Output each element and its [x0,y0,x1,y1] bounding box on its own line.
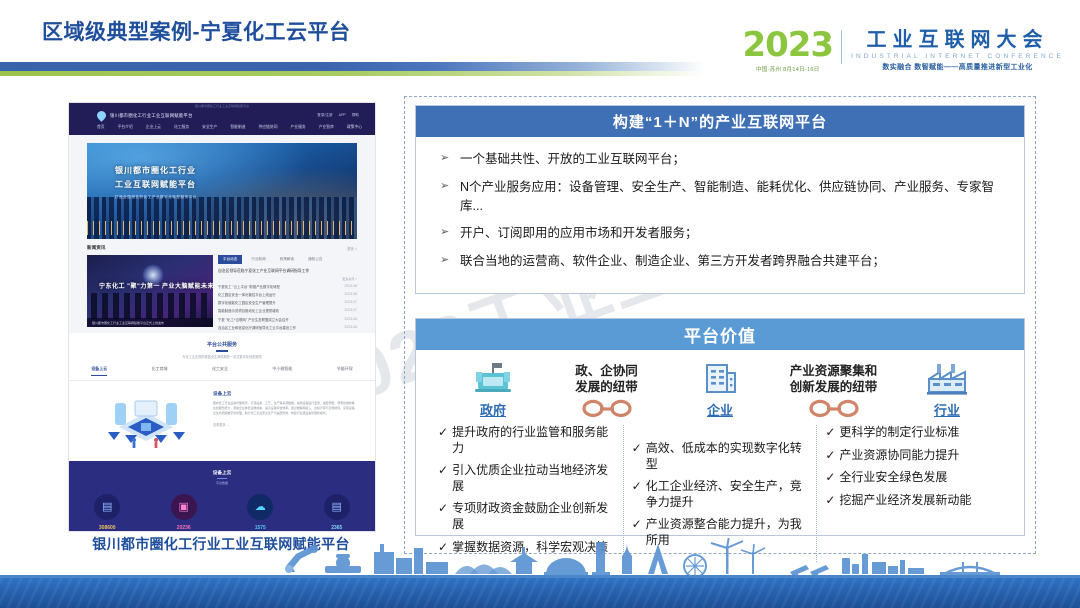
stat-item: ☁ 1575 工业APP [247,494,273,532]
bullet-text: 开户、订阅即用的应用市场和开发者服务； [460,224,698,243]
news-tab[interactable]: 政策解读 [275,255,299,264]
value-bullet-text: 专项财政资金鼓励企业创新发展 [452,501,615,532]
value-link-enterprise-industry: 产业资源聚集和 创新发展的纽带 [774,363,894,419]
conference-year-block: 2023 中国·苏州 8月14日-16日 [742,28,841,73]
news-item-date: 2023-08 [345,284,357,289]
hero-text-block: 银川都市圈化工行业 工业互联网赋能平台 打造全国领先的化工产业数字化转型服务平台 [115,165,197,200]
services-title: 平台公共服务 [69,341,375,348]
services-tabs[interactable]: 设备上云 化工商城 化工安全 中小微智能 节能环保 [69,366,375,381]
conference-tagline: 数实融合 数智赋能——高质量推进新型工业化 [882,62,1032,72]
bullet-text: 联合当地的运营商、软件企业、制造企业、第三方开发者跨界融合共建平台； [460,252,885,271]
value-bullet-text: 挖掘产业经济发展新动能 [839,493,971,509]
bullet-item: ➢ 开户、订阅即用的应用市场和开发者服务； [438,224,1002,243]
site-brand: 银川都市圈化工行业工业互联网赋能平台 [97,111,193,120]
industry-factory-icon [923,359,971,397]
site-brand-text: 银川都市圈化工行业工业互联网赋能平台 [110,113,193,119]
site-logo-icon [95,109,108,122]
site-nav[interactable]: 首页 平台介绍 企业上云 化工服务 安全生产 智能制造 供应链协同 产业服务 产… [97,125,362,130]
bullet-arrow-icon: ➢ [438,178,460,195]
site-hero-banner: 银川都市圈化工行业 工业互联网赋能平台 打造全国领先的化工产业数字化转型服务平台 [87,143,357,239]
header-divider-blue [0,62,706,71]
news-row: 宁东化工 "聚"力第一 产业大脑赋能未来 银川都市圈化工行业工业互联网赋能平台正… [87,255,357,327]
bottom-blue-band [0,578,1080,608]
news-item-title: 自治区工业和信息化厅调研指导化工云平台建设工作 [218,325,296,330]
value-bullet-text: 全行业安全绿色发展 [839,470,947,486]
services-tab-active[interactable]: 设备上云 [91,366,107,376]
news-item-date: 2023-08 [345,292,357,297]
bullet-arrow-icon: ➢ [438,224,460,241]
website-screenshot-image: 银川都市圈化工行业工业互联网赋能平台 银川都市圈化工行业工业互联网赋能平台 登录… [68,102,376,532]
value-link-government-enterprise: 政、企协同 发展的纽带 [547,363,667,419]
government-building-icon [471,359,515,397]
services-illustration [87,391,205,451]
bullet-item: ➢ 联合当地的运营商、软件企业、制造企业、第三方开发者跨界融合共建平台； [438,252,1002,271]
conference-name-en: INDUSTRIAL INTERNET CONFERENCE [851,53,1064,60]
check-icon: ✓ [825,448,835,464]
value-link-line1: 产业资源聚集和 [790,363,878,379]
platform-panel-body: ➢ 一个基础共性、开放的工业互联网平台； ➢ N个产业服务应用：设备管理、安全生… [416,137,1024,271]
value-bullet: ✓ 高效、低成本的实现数字化转型 [632,441,809,472]
site-nav-item[interactable]: 平台介绍 [118,125,133,130]
conference-name-cn: 工业互联网大会 [867,30,1049,51]
value-bullet-text: 更科学的制定行业标准 [839,425,959,441]
site-nav-item[interactable]: 政策中心 [347,125,362,130]
news-list-item[interactable]: 自治区工业和信息化厅调研指导化工云平台建设工作 2023-06 [218,325,357,330]
conference-date: 中国·苏州 8月14日-16日 [756,65,820,73]
check-icon: ✓ [632,517,642,533]
enterprise-icon: ▣ [171,494,197,520]
value-actor-label: 政府 [480,400,506,419]
hero-line-2: 工业互联网赋能平台 [115,179,197,190]
bullet-item: ➢ N个产业服务应用：设备管理、安全生产、智能制造、能耗优化、供应链协同、产业服… [438,178,1002,216]
site-nav-item[interactable]: 产业服务 [291,125,306,130]
value-bullet: ✓ 提升政府的行业监管和服务能力 [438,425,615,456]
news-item-date: 2023-06 [345,317,357,322]
bullet-text: 一个基础共性、开放的工业互联网平台； [460,150,685,169]
check-icon: ✓ [825,425,835,441]
news-tab[interactable]: 行业新闻 [246,255,270,264]
site-nav-item[interactable]: 企业上云 [146,125,161,130]
news-feature-image[interactable]: 宁东化工 "聚"力第一 产业大脑赋能未来 银川都市圈化工行业工业互联网赋能平台正… [87,255,213,327]
logo-separator [841,30,842,64]
check-icon: ✓ [438,425,448,441]
stat-item: ▤ 2365 服务商 [324,494,350,532]
service-provider-icon: ▤ [324,494,350,520]
news-item-date: 2023-07 [345,308,357,313]
value-actor-label: 行业 [934,400,960,419]
site-nav-item[interactable]: 智能制造 [230,125,245,130]
news-more-link[interactable]: 更多 > [347,246,357,251]
stats-row: ▤ 308600 接入设备数 ▣ 20236 上云企业 ☁ 1575 工业APP… [69,494,375,532]
value-bullet: ✓ 产业资源协同能力提升 [825,448,1002,464]
news-tab-active[interactable]: 平台动态 [218,255,242,264]
stats-subtitle: 平台数据 [69,481,375,485]
bullet-arrow-icon: ➢ [438,150,460,167]
services-section: 平台公共服务 为化工企业提供覆盖全生命周期的一站式数字化转型服务 设备上云 化工… [69,333,375,461]
site-nav-item[interactable]: 安全生产 [202,125,217,130]
news-item-title: 数字化赋能化工园区安全生产管理提升 [218,300,276,305]
news-tabs[interactable]: 平台动态 行业新闻 政策解读 通知公告 [218,255,357,264]
value-link-line2: 创新发展的纽带 [790,379,878,395]
chain-link-icon [807,399,861,419]
news-list-item[interactable]: 智能制造示范项目推动化工企业提质增效 2023-07 [218,308,357,313]
services-card-body: 面向化工行业设备管理场景，打通设备、工艺、生产等多源数据，提供设备运行监测、故障… [213,401,357,416]
news-item-title: 宁夏 "化工+互联网" 产业生态联盟成立大会召开 [218,317,289,322]
value-bullet-text: 引入优质企业拉动当地经济发展 [452,463,615,494]
stat-value: 1575 [255,525,266,531]
site-top-link[interactable]: 登录/注册 [317,113,332,118]
value-link-line1: 政、企协同 [575,363,638,379]
value-bullet-text: 化工企业经济、安全生产，竞争力提升 [646,479,809,510]
news-section-label: 新闻资讯 更多 > [87,245,357,251]
news-item-date: 2023-07 [345,300,357,305]
site-top-link[interactable]: 帮助 [352,113,359,118]
services-tab[interactable]: 化工安全 [212,366,228,376]
hero-lights-graphic [87,221,357,235]
news-more-small[interactable]: 更多资讯 > [218,277,357,281]
value-icon-row: 政府 政、企协同 发展的纽带 [416,350,1024,419]
bullet-text: N个产业服务应用：设备管理、安全生产、智能制造、能耗优化、供应链协同、产业服务、… [460,178,1002,216]
news-section-title: 新闻资讯 [87,245,105,251]
stats-underline [217,478,227,479]
news-list-item[interactable]: 宁夏化工 "云上平台" 助推产业数字化转型 2023-08 [218,284,357,289]
value-bullet: ✓ 全行业安全绿色发展 [825,470,1002,486]
services-body: 设备上云 面向化工行业设备管理场景，打通设备、工艺、生产等多源数据，提供设备运行… [69,381,375,461]
site-topbar: 银川都市圈化工行业工业互联网赋能平台 银川都市圈化工行业工业互联网赋能平台 登录… [69,103,375,135]
news-item-date: 2023-06 [345,325,357,330]
conference-year: 2023 [742,28,833,62]
value-panel: 平台价值 政府 政、企协同 发展的纽带 [415,318,1025,536]
device-icon: ▤ [94,494,120,520]
value-actor-label: 企业 [707,400,733,419]
services-underline [216,350,228,352]
services-card-more[interactable]: 查看更多 → [213,422,357,427]
check-icon: ✓ [438,501,448,517]
value-actor-enterprise: 企业 [679,359,761,419]
chain-link-icon [580,399,634,419]
platform-panel: 构建“1＋N”的产业互联网平台 ➢ 一个基础共性、开放的工业互联网平台； ➢ N… [415,105,1025,294]
news-list-item[interactable]: 化工园区安全一体化管控平台上线运行 2023-08 [218,292,357,297]
bullet-item: ➢ 一个基础共性、开放的工业互联网平台； [438,150,1002,169]
header-divider-green [0,71,706,76]
value-link-text: 政、企协同 发展的纽带 [575,363,638,395]
enterprise-building-icon [698,359,742,397]
stat-value: 308600 [99,525,116,531]
value-bullet: ✓ 专项财政资金鼓励企业创新发展 [438,501,615,532]
news-list-item[interactable]: 数字化赋能化工园区安全生产管理提升 2023-07 [218,300,357,305]
stats-section: 设备上云 平台数据 ▤ 308600 接入设备数 ▣ 20236 上云企业 ☁ … [69,461,375,533]
stat-item: ▤ 308600 接入设备数 [94,494,120,532]
page-title: 区域级典型案例-宁夏化工云平台 [42,16,351,46]
site-nav-item[interactable]: 产业智库 [319,125,334,130]
platform-panel-title: 构建“1＋N”的产业互联网平台 [416,106,1024,137]
value-bullet: ✓ 挖掘产业经济发展新动能 [825,493,1002,509]
news-item-title: 宁夏化工 "云上平台" 助推产业数字化转型 [218,284,280,289]
bottom-skyline-decoration [0,538,1080,578]
news-item-title: 智能制造示范项目推动化工企业提质增效 [218,308,279,313]
value-link-line2: 发展的纽带 [575,379,638,395]
check-icon: ✓ [825,493,835,509]
stat-item: ▣ 20236 上云企业 [171,494,197,532]
value-bullet-text: 高效、低成本的实现数字化转型 [646,441,809,472]
news-headline[interactable]: 自治区领导莅临宁夏化工产业互联网平台调研指导工作 [218,269,357,275]
site-preheader: 银川都市圈化工行业工业互联网赋能平台 [195,104,249,108]
site-nav-item[interactable]: 首页 [97,125,105,130]
services-tab[interactable]: 节能环保 [337,366,353,376]
services-subtitle: 为化工企业提供覆盖全生命周期的一站式数字化转型服务 [69,354,375,359]
value-bullet-text: 产业资源协同能力提升 [839,448,959,464]
services-tab[interactable]: 中小微智能 [272,366,292,376]
stat-value: 20236 [177,525,191,531]
conference-logo: 2023 中国·苏州 8月14日-16日 工业互联网大会 INDUSTRIAL … [742,28,1064,73]
site-top-link[interactable]: APP [339,113,346,118]
value-link-text: 产业资源聚集和 创新发展的纽带 [790,363,878,395]
news-tab[interactable]: 通知公告 [303,255,327,264]
value-panel-title: 平台价值 [416,319,1024,350]
stat-value: 2365 [331,525,342,531]
skyline-graphic-icon [0,538,1080,578]
site-top-links[interactable]: 登录/注册 APP 帮助 [317,113,359,118]
value-actor-industry: 行业 [906,359,988,419]
site-nav-item[interactable]: 供应链协同 [259,125,278,130]
check-icon: ✓ [632,479,642,495]
news-list: 平台动态 行业新闻 政策解读 通知公告 自治区领导莅临宁夏化工产业互联网平台调研… [218,255,357,327]
check-icon: ✓ [438,463,448,479]
hero-line-1: 银川都市圈化工行业 [115,165,197,176]
app-icon: ☁ [247,494,273,520]
site-nav-item[interactable]: 化工服务 [174,125,189,130]
value-bullet: ✓ 化工企业经济、安全生产，竞争力提升 [632,479,809,510]
value-bullet-text: 提升政府的行业监管和服务能力 [452,425,615,456]
cloud-platform-illustration-icon [87,391,205,451]
stats-title: 设备上云 [69,470,375,476]
services-card-text: 设备上云 面向化工行业设备管理场景，打通设备、工艺、生产等多源数据，提供设备运行… [213,391,357,451]
services-card-title: 设备上云 [213,391,357,397]
conference-name-block: 工业互联网大会 INDUSTRIAL INTERNET CONFERENCE 数… [851,30,1064,72]
services-tab[interactable]: 化工商城 [152,366,168,376]
hero-line-3: 打造全国领先的化工产业数字化转型服务平台 [115,195,197,200]
news-list-item[interactable]: 宁夏 "化工+互联网" 产业生态联盟成立大会召开 2023-06 [218,317,357,322]
value-actor-government: 政府 [452,359,534,419]
stage-people-graphic [91,293,209,319]
bullet-arrow-icon: ➢ [438,252,460,269]
check-icon: ✓ [632,441,642,457]
check-icon: ✓ [825,470,835,486]
value-bullet: ✓ 引入优质企业拉动当地经济发展 [438,463,615,494]
news-feature-caption: 银川都市圈化工行业工业互联网赋能平台正式上线发布 [87,318,213,327]
news-item-title: 化工园区安全一体化管控平台上线运行 [218,292,276,297]
value-bullet: ✓ 更科学的制定行业标准 [825,425,1002,441]
news-feature-title: 宁东化工 "聚"力第一 产业大脑赋能未来 [99,281,213,290]
